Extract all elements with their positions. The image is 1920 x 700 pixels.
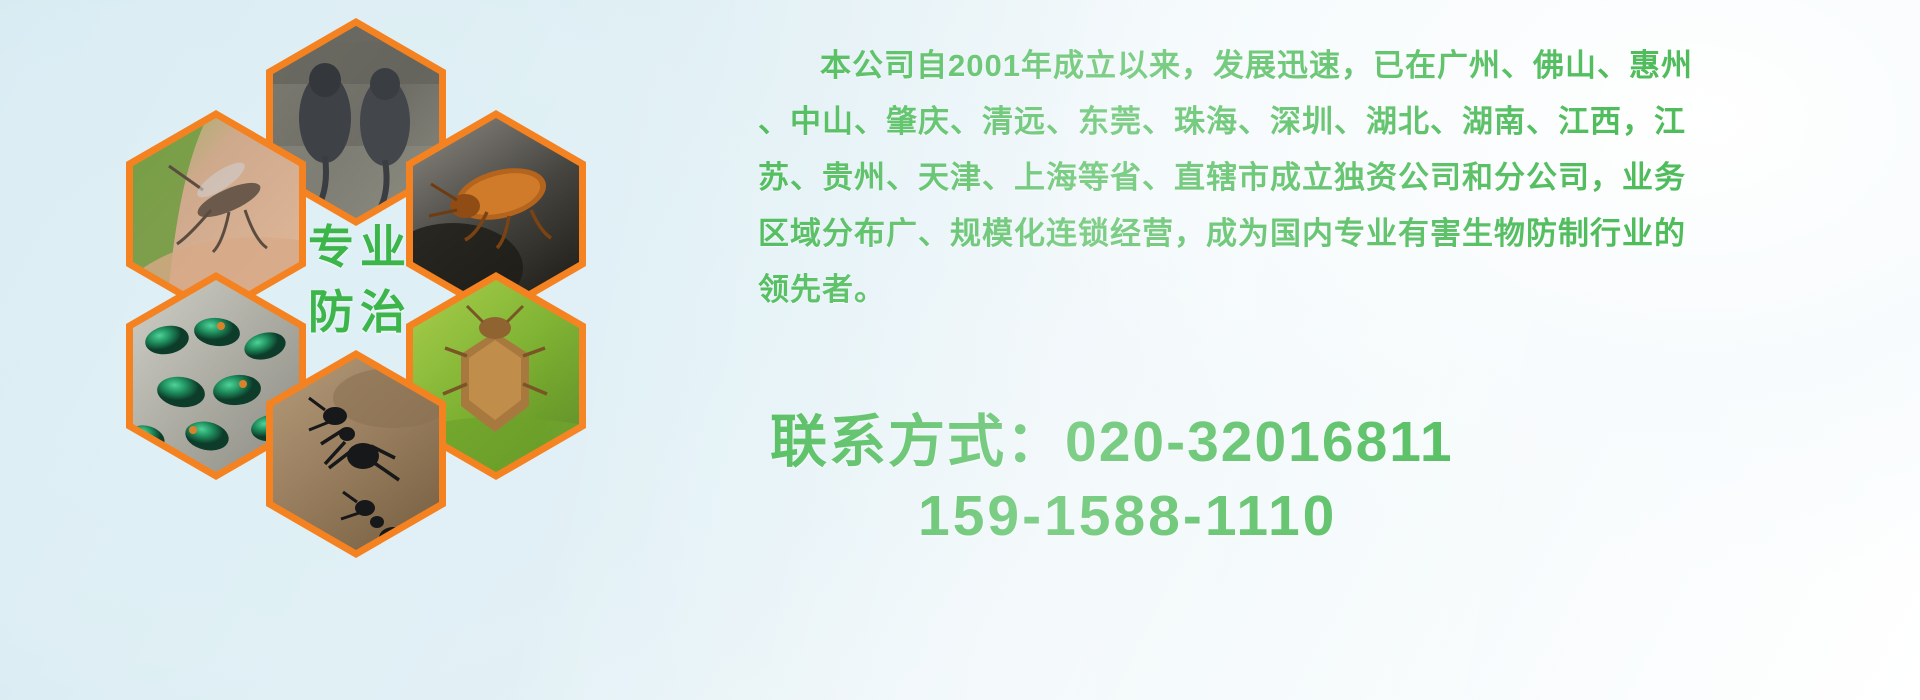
badge-line-1: 专业 [308, 218, 412, 277]
contact-phone-secondary[interactable]: 159-1588-1110 [770, 479, 1870, 553]
promo-banner: 专业 防治 本公司自2001年成立以来，发展迅速，已在广州、佛山、惠州 、中山、… [0, 0, 1920, 700]
ants-icon [273, 358, 439, 550]
company-intro: 本公司自2001年成立以来，发展迅速，已在广州、佛山、惠州 、中山、肇庆、清远、… [758, 38, 1848, 318]
hexagon-image-cluster: 专业 防治 [90, 0, 590, 560]
intro-line-1: 本公司自2001年成立以来，发展迅速，已在广州、佛山、惠州 [758, 38, 1848, 94]
intro-line-4: 区域分布广、规模化连锁经营，成为国内专业有害生物防制行业的 [758, 206, 1848, 262]
contact-block: 联系方式：020-32016811 159-1588-1110 [770, 405, 1870, 553]
intro-line-3: 苏、贵州、天津、上海等省、直辖市成立独资公司和分公司，业务 [758, 150, 1848, 206]
intro-line-2: 、中山、肇庆、清远、东莞、珠海、深圳、湖北、湖南、江西，江 [758, 94, 1848, 150]
intro-line-5: 领先者。 [758, 262, 1848, 318]
badge-line-2: 防治 [308, 283, 412, 342]
contact-phone-primary[interactable]: 联系方式：020-32016811 [770, 405, 1870, 479]
badge-text: 专业 防治 [270, 180, 450, 380]
